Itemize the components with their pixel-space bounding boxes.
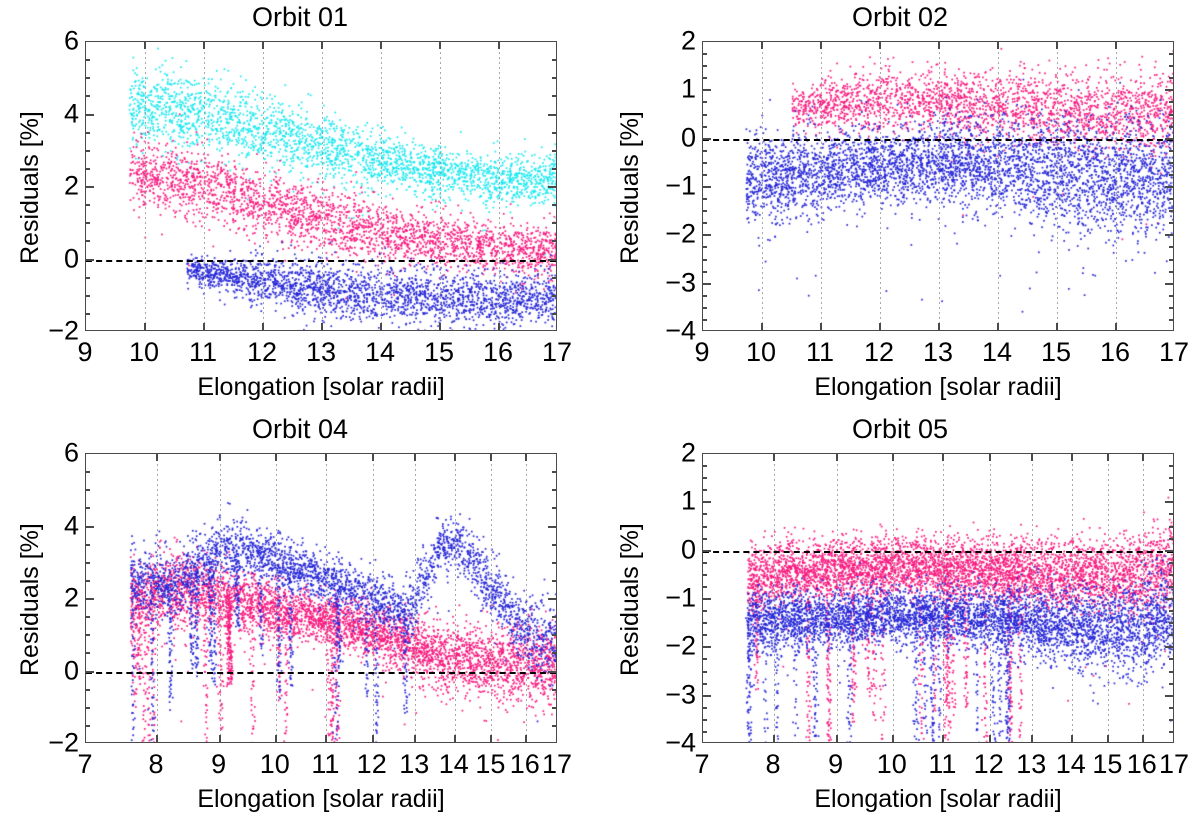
zero-reference-line — [703, 551, 1173, 553]
gridline-x-13 — [939, 42, 940, 330]
y-minor-tick-right — [1169, 126, 1174, 128]
y-minor-tick — [702, 295, 707, 297]
y-minor-tick — [85, 616, 90, 618]
gridline-x-14 — [998, 42, 999, 330]
y-minor-tick-right — [1169, 259, 1174, 261]
y-tick-label-2: 2 — [658, 26, 696, 57]
x-tick-12 — [372, 735, 374, 743]
gridline-x-10 — [893, 454, 894, 742]
panel-title-orbit01: Orbit 01 — [0, 2, 600, 33]
y-tick--3 — [702, 283, 711, 285]
x-tick-top-8 — [156, 453, 158, 461]
y-minor-tick-right — [1169, 526, 1174, 528]
y-tick-0 — [85, 259, 94, 261]
x-tick-label-13: 13 — [399, 749, 429, 780]
x-tick-top-9 — [219, 453, 221, 461]
y-tick-label-2: 2 — [41, 171, 79, 202]
y-minor-tick-right — [1169, 65, 1174, 67]
y-tick-label-6: 6 — [41, 26, 79, 57]
x-tick-label-14: 14 — [365, 337, 395, 368]
y-minor-tick-right — [1169, 246, 1174, 248]
x-tick-15 — [1107, 735, 1109, 743]
figure-canvas: Orbit 01 Residuals [%] Elongation [solar… — [0, 0, 1200, 825]
y-minor-tick — [702, 658, 707, 660]
x-tick-9 — [219, 735, 221, 743]
y-minor-tick — [85, 150, 90, 152]
x-tick-16 — [1115, 323, 1117, 331]
y-minor-tick — [702, 198, 707, 200]
y-minor-tick — [85, 689, 90, 691]
y-minor-tick-right — [1169, 307, 1174, 309]
y-minor-tick — [702, 707, 707, 709]
x-tick-label-16: 16 — [483, 337, 513, 368]
x-tick-12 — [879, 323, 881, 331]
x-tick-top-13 — [321, 41, 323, 49]
y-minor-tick-right — [1169, 114, 1174, 116]
y-minor-tick — [85, 562, 90, 564]
y-tick--1 — [702, 598, 711, 600]
y-minor-tick — [85, 95, 90, 97]
gridline-x-15 — [1108, 454, 1109, 742]
chart-panel-orbit04: Orbit 04 Residuals [%] Elongation [solar… — [0, 412, 600, 825]
gridline-x-16 — [1143, 454, 1144, 742]
y-minor-tick — [702, 126, 707, 128]
y-tick-right-4 — [548, 526, 557, 528]
y-tick-0 — [702, 138, 711, 140]
y-minor-tick — [85, 204, 90, 206]
y-axis-title-orbit05: Residuals [%] — [616, 523, 645, 676]
gridline-x-16 — [1116, 42, 1117, 330]
y-tick--2 — [702, 646, 711, 648]
y-minor-tick-right — [552, 707, 557, 709]
x-tick-11 — [820, 323, 822, 331]
y-tick-right-1 — [1165, 89, 1174, 91]
gridline-x-12 — [880, 42, 881, 330]
y-minor-tick — [85, 132, 90, 134]
x-tick-label-11: 11 — [928, 749, 956, 780]
y-tick-4 — [85, 526, 94, 528]
y-tick-2 — [85, 598, 94, 600]
y-tick-label-6: 6 — [41, 438, 79, 469]
x-tick-13 — [321, 323, 323, 331]
y-minor-tick-right — [1169, 671, 1174, 673]
x-tick-top-15 — [490, 453, 492, 461]
zero-reference-line — [86, 672, 556, 674]
y-minor-tick — [85, 652, 90, 654]
x-tick-14 — [380, 323, 382, 331]
x-tick-label-13: 13 — [306, 337, 336, 368]
y-minor-tick — [702, 53, 707, 55]
y-minor-tick — [702, 538, 707, 540]
gridline-x-10 — [276, 454, 277, 742]
y-minor-tick — [85, 580, 90, 582]
x-tick-top-11 — [325, 453, 327, 461]
x-tick-16 — [498, 323, 500, 331]
y-minor-tick-right — [1169, 586, 1174, 588]
x-tick-16 — [1142, 735, 1144, 743]
x-tick-top-12 — [879, 41, 881, 49]
y-minor-tick-right — [1169, 222, 1174, 224]
y-tick-label-4: 4 — [41, 98, 79, 129]
x-tick-top-15 — [439, 41, 441, 49]
y-minor-tick-right — [552, 652, 557, 654]
y-minor-tick-right — [1169, 210, 1174, 212]
x-tick-label-15: 15 — [424, 337, 454, 368]
x-tick-label-7: 7 — [694, 749, 709, 780]
gridline-x-14 — [381, 42, 382, 330]
y-minor-tick — [702, 610, 707, 612]
y-minor-tick-right — [1169, 174, 1174, 176]
x-tick-label-17: 17 — [542, 749, 572, 780]
y-tick-right-0 — [1165, 550, 1174, 552]
x-tick-9 — [836, 735, 838, 743]
y-axis-title-orbit02: Residuals [%] — [616, 111, 645, 264]
gridline-x-16 — [526, 454, 527, 742]
y-tick-label--2: −2 — [41, 728, 79, 759]
gridline-x-11 — [821, 42, 822, 330]
y-minor-tick — [702, 622, 707, 624]
y-minor-tick-right — [1169, 683, 1174, 685]
y-tick-right-2 — [548, 598, 557, 600]
x-tick-top-15 — [1107, 453, 1109, 461]
plot-area — [85, 41, 557, 331]
y-minor-tick — [702, 259, 707, 261]
y-minor-tick — [702, 526, 707, 528]
gridline-x-14 — [1072, 454, 1073, 742]
x-tick-top-14 — [380, 41, 382, 49]
gridline-x-9 — [837, 454, 838, 742]
x-tick-15 — [439, 323, 441, 331]
y-tick-label--1: −1 — [658, 583, 696, 614]
x-tick-label-12: 12 — [357, 749, 387, 780]
y-minor-tick-right — [1169, 150, 1174, 152]
x-tick-11 — [942, 735, 944, 743]
y-minor-tick-right — [552, 507, 557, 509]
x-tick-label-12: 12 — [247, 337, 277, 368]
y-tick-label-0: 0 — [41, 655, 79, 686]
x-tick-label-15: 15 — [475, 749, 505, 780]
gridline-x-10 — [145, 42, 146, 330]
y-tick-right-0 — [1165, 138, 1174, 140]
y-tick-1 — [702, 89, 711, 91]
y-minor-tick — [85, 277, 90, 279]
y-tick-right-0 — [548, 671, 557, 673]
y-minor-tick-right — [1169, 101, 1174, 103]
y-tick-label-0: 0 — [658, 122, 696, 153]
y-minor-tick — [85, 634, 90, 636]
x-tick-label-17: 17 — [1159, 337, 1189, 368]
gridline-x-11 — [326, 454, 327, 742]
x-tick-13 — [1031, 735, 1033, 743]
x-tick-top-9 — [836, 453, 838, 461]
x-tick-label-17: 17 — [542, 337, 572, 368]
y-minor-tick-right — [552, 95, 557, 97]
y-minor-tick-right — [1169, 562, 1174, 564]
y-tick-label--2: −2 — [41, 316, 79, 347]
x-tick-11 — [325, 735, 327, 743]
x-tick-top-10 — [892, 453, 894, 461]
y-minor-tick-right — [1169, 731, 1174, 733]
y-tick-2 — [85, 186, 94, 188]
y-minor-tick-right — [552, 277, 557, 279]
zero-reference-line — [703, 139, 1173, 141]
y-minor-tick — [702, 465, 707, 467]
y-tick-right--1 — [1165, 598, 1174, 600]
gridline-x-11 — [204, 42, 205, 330]
y-minor-tick — [702, 307, 707, 309]
y-minor-tick-right — [1169, 319, 1174, 321]
x-axis-title-orbit02: Elongation [solar radii] — [814, 373, 1061, 402]
x-tick-15 — [490, 735, 492, 743]
y-minor-tick-right — [552, 222, 557, 224]
y-minor-tick — [702, 513, 707, 515]
gridline-x-9 — [220, 454, 221, 742]
y-minor-tick — [85, 222, 90, 224]
y-minor-tick — [702, 162, 707, 164]
x-tick-label-8: 8 — [149, 749, 164, 780]
y-minor-tick-right — [552, 150, 557, 152]
x-axis-title-orbit04: Elongation [solar radii] — [197, 785, 444, 814]
x-tick-label-8: 8 — [766, 749, 781, 780]
y-tick-label--2: −2 — [658, 631, 696, 662]
y-tick-label-4: 4 — [41, 510, 79, 541]
y-minor-tick-right — [552, 59, 557, 61]
y-tick-label--4: −4 — [658, 316, 696, 347]
y-minor-tick — [702, 174, 707, 176]
x-tick-top-16 — [1142, 453, 1144, 461]
y-tick-label-2: 2 — [658, 438, 696, 469]
y-minor-tick — [702, 271, 707, 273]
y-minor-tick-right — [1169, 574, 1174, 576]
y-minor-tick-right — [552, 313, 557, 315]
y-minor-tick-right — [1169, 622, 1174, 624]
zero-reference-line — [86, 260, 556, 262]
x-tick-top-10 — [761, 41, 763, 49]
y-tick-right--3 — [1165, 695, 1174, 697]
y-minor-tick-right — [552, 132, 557, 134]
y-minor-tick-right — [1169, 538, 1174, 540]
x-tick-label-9: 9 — [828, 749, 843, 780]
x-tick-label-9: 9 — [77, 337, 92, 368]
y-minor-tick-right — [1169, 198, 1174, 200]
y-minor-tick-right — [1169, 77, 1174, 79]
x-axis-title-orbit05: Elongation [solar radii] — [814, 785, 1061, 814]
x-tick-label-17: 17 — [1159, 749, 1189, 780]
y-tick-label-0: 0 — [658, 534, 696, 565]
y-minor-tick-right — [1169, 719, 1174, 721]
y-minor-tick-right — [552, 725, 557, 727]
y-minor-tick — [702, 246, 707, 248]
x-tick-label-16: 16 — [510, 749, 540, 780]
y-minor-tick — [85, 725, 90, 727]
x-tick-10 — [892, 735, 894, 743]
x-tick-top-11 — [820, 41, 822, 49]
y-minor-tick-right — [1169, 513, 1174, 515]
y-tick-right-1 — [1165, 501, 1174, 503]
x-tick-top-14 — [454, 453, 456, 461]
x-tick-top-10 — [275, 453, 277, 461]
x-tick-label-10: 10 — [746, 337, 776, 368]
x-tick-16 — [525, 735, 527, 743]
y-tick--3 — [702, 695, 711, 697]
y-tick--2 — [702, 234, 711, 236]
x-tick-top-16 — [1115, 41, 1117, 49]
y-minor-tick — [85, 544, 90, 546]
gridline-x-13 — [322, 42, 323, 330]
x-tick-10 — [144, 323, 146, 331]
x-tick-label-7: 7 — [77, 749, 92, 780]
gridline-x-13 — [415, 454, 416, 742]
gridline-x-15 — [1057, 42, 1058, 330]
y-minor-tick — [702, 65, 707, 67]
y-minor-tick-right — [552, 562, 557, 564]
y-minor-tick-right — [552, 295, 557, 297]
x-tick-label-11: 11 — [189, 337, 217, 368]
y-minor-tick — [702, 586, 707, 588]
x-tick-top-16 — [498, 41, 500, 49]
y-minor-tick-right — [552, 471, 557, 473]
gridline-x-12 — [373, 454, 374, 742]
y-minor-tick — [85, 507, 90, 509]
x-tick-top-12 — [372, 453, 374, 461]
x-tick-label-15: 15 — [1041, 337, 1071, 368]
y-minor-tick-right — [552, 240, 557, 242]
x-tick-14 — [1071, 735, 1073, 743]
y-minor-tick — [702, 319, 707, 321]
plot-area — [702, 453, 1174, 743]
x-tick-label-9: 9 — [694, 337, 709, 368]
y-minor-tick-right — [552, 689, 557, 691]
x-tick-top-12 — [989, 453, 991, 461]
chart-panel-orbit05: Orbit 05 Residuals [%] Elongation [solar… — [600, 412, 1200, 825]
y-minor-tick — [702, 150, 707, 152]
y-tick-label-1: 1 — [658, 74, 696, 105]
gridline-x-12 — [263, 42, 264, 330]
y-minor-tick-right — [1169, 162, 1174, 164]
x-tick-label-13: 13 — [1016, 749, 1046, 780]
y-minor-tick — [702, 574, 707, 576]
y-tick-label-0: 0 — [41, 243, 79, 274]
y-minor-tick-right — [552, 168, 557, 170]
y-tick-label--3: −3 — [658, 267, 696, 298]
x-tick-label-11: 11 — [311, 749, 339, 780]
y-minor-tick — [702, 114, 707, 116]
y-minor-tick — [85, 168, 90, 170]
x-tick-11 — [203, 323, 205, 331]
gridline-x-11 — [943, 454, 944, 742]
x-tick-label-10: 10 — [260, 749, 290, 780]
x-tick-14 — [454, 735, 456, 743]
y-minor-tick — [702, 719, 707, 721]
gridline-x-15 — [440, 42, 441, 330]
panel-title-orbit04: Orbit 04 — [0, 414, 600, 445]
y-minor-tick — [85, 707, 90, 709]
plot-area — [702, 41, 1174, 331]
y-minor-tick — [702, 562, 707, 564]
y-minor-tick-right — [1169, 477, 1174, 479]
y-tick-right-4 — [548, 114, 557, 116]
y-minor-tick — [85, 489, 90, 491]
y-tick-label-1: 1 — [658, 486, 696, 517]
x-tick-top-8 — [773, 453, 775, 461]
y-minor-tick-right — [552, 204, 557, 206]
x-tick-top-13 — [938, 41, 940, 49]
x-tick-10 — [761, 323, 763, 331]
y-tick-right-0 — [548, 259, 557, 261]
x-tick-label-16: 16 — [1100, 337, 1130, 368]
y-minor-tick-right — [1169, 465, 1174, 467]
y-minor-tick — [85, 295, 90, 297]
y-minor-tick — [702, 477, 707, 479]
y-minor-tick — [85, 240, 90, 242]
x-tick-top-15 — [1056, 41, 1058, 49]
y-tick-right-2 — [548, 186, 557, 188]
y-minor-tick — [702, 683, 707, 685]
gridline-x-12 — [990, 454, 991, 742]
y-minor-tick-right — [1169, 53, 1174, 55]
y-minor-tick-right — [1169, 634, 1174, 636]
y-tick-1 — [702, 501, 711, 503]
y-minor-tick — [702, 101, 707, 103]
y-minor-tick — [702, 77, 707, 79]
y-minor-tick — [702, 222, 707, 224]
x-tick-label-16: 16 — [1127, 749, 1157, 780]
y-minor-tick — [702, 671, 707, 673]
x-tick-label-14: 14 — [982, 337, 1012, 368]
y-minor-tick — [85, 59, 90, 61]
x-tick-label-11: 11 — [806, 337, 834, 368]
x-tick-15 — [1056, 323, 1058, 331]
x-tick-top-11 — [203, 41, 205, 49]
y-minor-tick — [85, 77, 90, 79]
x-tick-label-12: 12 — [974, 749, 1004, 780]
y-tick-label--2: −2 — [658, 219, 696, 250]
y-tick--1 — [702, 186, 711, 188]
y-tick-label--4: −4 — [658, 728, 696, 759]
x-tick-label-10: 10 — [129, 337, 159, 368]
y-tick-4 — [85, 114, 94, 116]
y-minor-tick-right — [1169, 707, 1174, 709]
y-minor-tick-right — [1169, 610, 1174, 612]
chart-panel-orbit02: Orbit 02 Residuals [%] Elongation [solar… — [600, 0, 1200, 412]
y-tick-label-2: 2 — [41, 583, 79, 614]
y-minor-tick — [702, 634, 707, 636]
y-tick-0 — [702, 550, 711, 552]
y-minor-tick-right — [1169, 489, 1174, 491]
x-tick-12 — [989, 735, 991, 743]
y-minor-tick — [85, 471, 90, 473]
x-tick-top-12 — [262, 41, 264, 49]
x-tick-top-14 — [997, 41, 999, 49]
x-tick-top-13 — [414, 453, 416, 461]
plot-area — [85, 453, 557, 743]
gridline-x-13 — [1032, 454, 1033, 742]
x-axis-title-orbit01: Elongation [solar radii] — [197, 373, 444, 402]
x-tick-top-14 — [1071, 453, 1073, 461]
y-minor-tick-right — [552, 489, 557, 491]
gridline-x-16 — [499, 42, 500, 330]
y-minor-tick — [702, 210, 707, 212]
y-minor-tick-right — [1169, 295, 1174, 297]
x-tick-label-13: 13 — [923, 337, 953, 368]
x-tick-8 — [773, 735, 775, 743]
x-tick-top-10 — [144, 41, 146, 49]
x-tick-label-14: 14 — [439, 749, 469, 780]
y-minor-tick — [85, 313, 90, 315]
gridline-x-8 — [157, 454, 158, 742]
x-tick-label-15: 15 — [1092, 749, 1122, 780]
y-tick-right--1 — [1165, 186, 1174, 188]
